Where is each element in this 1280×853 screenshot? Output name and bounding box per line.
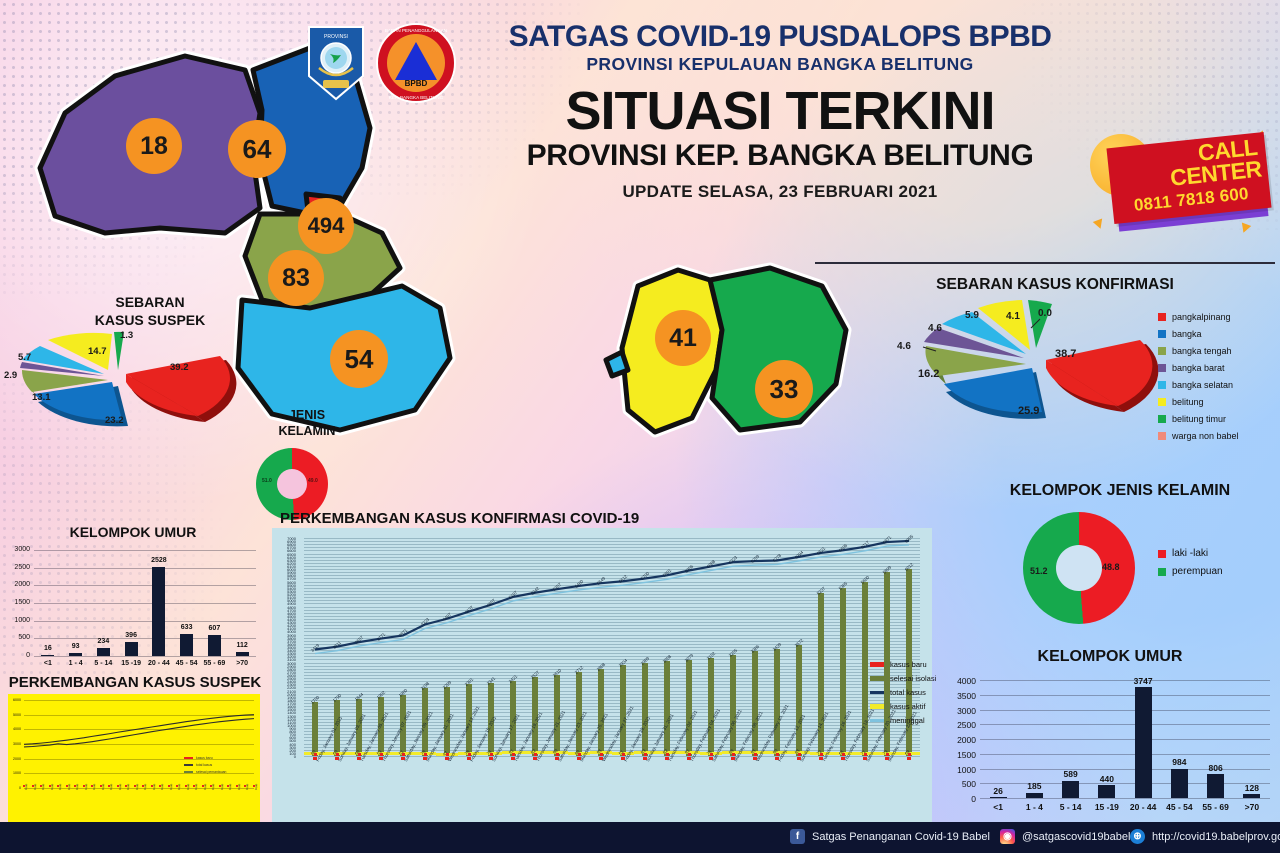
konfirmasi-pie-label-bangka-barat: 4.6 xyxy=(897,341,911,352)
x-axis-tick: 15 -19 xyxy=(1089,802,1125,812)
map-bubble-value: 83 xyxy=(282,264,310,293)
y-axis-tick: 2500 xyxy=(948,720,976,730)
x-axis-tick: 1 - 4 xyxy=(62,660,90,667)
y-axis-tick: 3000 xyxy=(948,706,976,716)
logo-bpbd-text: BPBD xyxy=(405,79,428,88)
x-axis-date: Date xyxy=(135,784,139,790)
legend-label: total kasus xyxy=(196,763,212,767)
suspek-pie-label-bangka-selatan: 5.7 xyxy=(18,352,31,363)
legend-swatch-icon xyxy=(1158,347,1166,355)
x-axis-date: Date xyxy=(50,784,54,790)
legend-label: laki -laki xyxy=(1172,548,1208,559)
suspek-pie-title-line2: KASUS SUSPEK xyxy=(55,312,245,330)
y-axis-tick: 1000 xyxy=(948,765,976,775)
suspek-pie-title-line1: SEBARAN xyxy=(55,294,245,312)
kelompok-jk-legend: laki -laki perempuan xyxy=(1158,548,1223,584)
legend-label: warga non babel xyxy=(1172,431,1239,441)
legend-item[interactable]: total kasus xyxy=(870,688,936,697)
x-axis-tick: <1 xyxy=(980,802,1016,812)
x-axis-tick: 5 - 14 xyxy=(90,660,118,667)
x-axis-tick: 20 - 44 xyxy=(145,660,173,667)
y-axis-tick: 1500 xyxy=(948,750,976,760)
jenis-kelamin-title: JENIS KELAMIN xyxy=(252,408,362,439)
map-bubble-belitung-timur[interactable]: 33 xyxy=(755,360,813,418)
bar xyxy=(1062,781,1079,798)
legend-label: selesai isolasi xyxy=(890,674,936,683)
x-axis-marker xyxy=(555,757,559,760)
x-axis-date: Date xyxy=(152,784,156,790)
legend-item[interactable]: bangka tengah xyxy=(1158,346,1239,356)
perkembangan-konfirmasi-title: PERKEMBANGAN KASUS KONFIRMASI COVID-19 xyxy=(280,510,920,527)
header-divider xyxy=(815,262,1275,264)
bar-value-label: 26 xyxy=(980,786,1016,796)
legend-swatch-icon xyxy=(1158,313,1166,321)
call-center-badge[interactable]: CALL CENTER 0811 7818 600 xyxy=(1090,128,1270,238)
x-axis-date: Date xyxy=(126,784,130,790)
konfirmasi-leader-line xyxy=(1028,318,1042,330)
legend-swatch-icon xyxy=(1158,415,1166,423)
map-bubble-belitung[interactable]: 41 xyxy=(655,310,711,366)
map-bubble-value: 18 xyxy=(140,132,168,161)
infographic-poster: 18 64 494 83 54 41 33 PROVINSI BPBD BADA… xyxy=(0,0,1280,853)
map-bubble-value: 33 xyxy=(770,374,799,405)
legend-swatch-icon xyxy=(1158,381,1166,389)
gridline xyxy=(34,603,256,604)
gridline xyxy=(980,724,1270,725)
gridline xyxy=(980,798,1270,799)
map-bubble-value: 64 xyxy=(243,134,272,165)
gridline xyxy=(980,754,1270,755)
x-axis-marker xyxy=(841,757,845,760)
konfirmasi-leader-line xyxy=(922,344,938,354)
suspek-pie-label-bangka: 23.2 xyxy=(105,415,124,426)
bar xyxy=(41,655,54,656)
legend-label: kasus baru xyxy=(890,660,927,669)
header-block: SATGAS COVID-19 PUSDALOPS BPBD PROVINSI … xyxy=(470,22,1090,202)
footer-facebook-label: Satgas Penanganan Covid-19 Babel xyxy=(812,831,990,843)
legend-item[interactable]: total kasus xyxy=(184,763,226,767)
legend-swatch-icon xyxy=(184,764,193,766)
y-axis-tick: 1000 xyxy=(8,617,30,624)
jenis-kelamin-label-laki: 49.0 xyxy=(308,478,318,484)
x-axis-date: Date xyxy=(220,784,224,790)
x-axis-tick: 45 - 54 xyxy=(173,660,201,667)
suspek-pie-label-belitung-timur: 1.3 xyxy=(120,330,133,341)
jenis-kelamin-title-line1: JENIS xyxy=(252,408,362,424)
gridline xyxy=(980,710,1270,711)
legend-item[interactable]: kasus baru xyxy=(870,660,936,669)
facebook-icon: f xyxy=(790,829,805,844)
x-axis-date: Date xyxy=(203,784,207,790)
umur-kiri-chart: 05001000150020002500300016<1931 - 42345 … xyxy=(8,542,260,674)
map-bubble-bangka-tengah[interactable]: 83 xyxy=(268,250,324,306)
footer-facebook[interactable]: f Satgas Penanganan Covid-19 Babel xyxy=(790,829,990,844)
suspek-pie-label-bangka-tengah: 13.1 xyxy=(32,392,51,403)
bar xyxy=(180,634,193,656)
x-axis-marker xyxy=(379,757,383,760)
konfirmasi-pie-legend: pangkalpinang bangka bangka tengah bangk… xyxy=(1158,312,1239,448)
konfirmasi-pie-label-belitung: 5.9 xyxy=(965,310,979,321)
legend-swatch-icon xyxy=(1158,568,1166,576)
x-axis-date: Date xyxy=(177,784,181,790)
x-axis-marker xyxy=(313,757,317,760)
x-axis-marker xyxy=(907,757,911,760)
legend-label: perempuan xyxy=(1172,566,1223,577)
konfirmasi-pie-label-pangkalpinang: 38.7 xyxy=(1055,348,1076,360)
suspek-pie-label-bangka-barat: 2.9 xyxy=(4,370,17,381)
gridline xyxy=(34,656,256,657)
legend-item[interactable]: belitung timur xyxy=(1158,414,1239,424)
logo-bpbd-ring-text: BADAN PENANGGULANGAN xyxy=(385,28,447,33)
y-axis-tick: 2500 xyxy=(8,564,30,571)
x-axis-marker xyxy=(731,757,735,760)
x-axis-marker xyxy=(423,757,427,760)
konfirmasi-pie-label-bangka-selatan: 4.6 xyxy=(928,323,942,334)
x-axis-marker xyxy=(643,757,647,760)
x-axis-marker xyxy=(621,757,625,760)
bar-value-label: 128 xyxy=(1234,783,1270,793)
bar-value-label: 185 xyxy=(1016,781,1052,791)
x-axis-marker xyxy=(357,757,361,760)
legend-swatch-icon xyxy=(870,676,884,681)
y-axis-tick: 1500 xyxy=(8,599,30,606)
legend-item[interactable]: laki -laki xyxy=(1158,548,1223,559)
x-axis-tick: >70 xyxy=(228,660,256,667)
gridline xyxy=(980,695,1270,696)
y-axis-tick: 0 xyxy=(8,652,30,659)
provincial-emblem-logo: PROVINSI xyxy=(305,24,367,102)
map-bubble-pangkalpinang[interactable]: 494 xyxy=(298,198,354,254)
x-axis-tick: 45 - 54 xyxy=(1161,802,1197,812)
map-bubble-bangka-selatan[interactable]: 54 xyxy=(330,330,388,388)
legend-item[interactable]: bangka selatan xyxy=(1158,380,1239,390)
legend-swatch-icon xyxy=(870,662,884,667)
header-province-line: PROVINSI KEPULAUAN BANGKA BELITUNG xyxy=(470,52,1090,77)
bar xyxy=(1135,687,1152,798)
footer-bar: f Satgas Penanganan Covid-19 Babel ◉ @sa… xyxy=(0,822,1280,853)
x-axis-date: Date xyxy=(160,784,164,790)
legend-swatch-icon xyxy=(184,771,193,773)
x-axis-marker xyxy=(335,757,339,760)
x-axis-date: Date xyxy=(67,784,71,790)
map-bubble-bangka-barat[interactable]: 18 xyxy=(126,118,182,174)
umur-kanan-title: KELOMPOK UMUR xyxy=(950,648,1270,666)
suspek-pie-chart xyxy=(0,330,250,450)
gridline xyxy=(980,739,1270,740)
legend-swatch-icon xyxy=(1158,550,1166,558)
x-axis-marker xyxy=(863,757,867,760)
gridline xyxy=(34,621,256,622)
legend-item[interactable]: belitung xyxy=(1158,397,1239,407)
x-axis-date: Date xyxy=(33,784,37,790)
x-axis-date: Date xyxy=(186,784,190,790)
bar-value-label: 589 xyxy=(1053,769,1089,779)
suspek-pie-title: SEBARAN KASUS SUSPEK xyxy=(55,294,245,329)
legend-swatch-icon xyxy=(1158,364,1166,372)
x-axis-marker xyxy=(797,757,801,760)
x-axis-date: Date xyxy=(58,784,62,790)
legend-label: kasus baru xyxy=(196,756,213,760)
x-axis-marker xyxy=(533,757,537,760)
bar xyxy=(1026,793,1043,798)
y-axis-tick: 500 xyxy=(948,779,976,789)
x-axis-tick: 20 - 44 xyxy=(1125,802,1161,812)
bar xyxy=(990,797,1007,798)
legend-swatch-icon xyxy=(870,719,884,722)
legend-item[interactable]: bangka barat xyxy=(1158,363,1239,373)
bar xyxy=(69,653,82,656)
x-axis-tick: 5 - 14 xyxy=(1053,802,1089,812)
perkembangan-suspek-chart: 0100020003000400050006000DateDateDateDat… xyxy=(8,694,260,834)
x-axis-date: Date xyxy=(194,784,198,790)
bar xyxy=(208,635,221,656)
footer-instagram[interactable]: ◉ @satgascovid19babel xyxy=(1000,829,1130,844)
jenis-kelamin-label-perempuan: 51.0 xyxy=(262,478,272,484)
legend-swatch-icon xyxy=(184,757,193,759)
bar-value-label: 607 xyxy=(196,625,232,632)
perkembangan-suspek-title: PERKEMBANGAN KASUS SUSPEK xyxy=(4,674,266,691)
bar-value-label: 806 xyxy=(1198,763,1234,773)
bar-value-label: 3747 xyxy=(1125,676,1161,686)
gridline xyxy=(34,568,256,569)
gridline xyxy=(34,585,256,586)
x-axis-marker xyxy=(467,757,471,760)
bar-value-label: 396 xyxy=(113,632,149,639)
update-date: UPDATE SELASA, 23 FEBRUARI 2021 xyxy=(470,182,1090,202)
x-axis-date: Date xyxy=(92,784,96,790)
perkembangan-konfirmasi-legend: kasus baru selesai isolasi total kasus k… xyxy=(870,660,936,730)
map-bubble-value: 494 xyxy=(308,213,345,239)
legend-swatch-icon xyxy=(870,691,884,694)
spark-icon xyxy=(1239,223,1251,235)
x-axis-marker xyxy=(511,757,515,760)
legend-item[interactable]: selesai pemantauan xyxy=(184,770,226,774)
legend-swatch-icon xyxy=(1158,398,1166,406)
x-axis-tick: >70 xyxy=(1234,802,1270,812)
legend-label: bangka selatan xyxy=(1172,380,1233,390)
x-axis-date: Date xyxy=(101,784,105,790)
umur-kiri-title: KELOMPOK UMUR xyxy=(8,524,258,540)
kelompok-jk-title: KELOMPOK JENIS KELAMIN xyxy=(965,482,1275,500)
perkembangan-konfirmasi-chart: 0100200300400500600700800900100011001200… xyxy=(272,528,932,844)
x-axis-date: Date xyxy=(75,784,79,790)
legend-label: pangkalpinang xyxy=(1172,312,1231,322)
footer-instagram-label: @satgascovid19babel xyxy=(1022,831,1130,843)
legend-label: meninggal xyxy=(890,716,925,725)
legend-swatch-icon xyxy=(1158,432,1166,440)
x-axis-date: Date xyxy=(169,784,173,790)
instagram-icon: ◉ xyxy=(1000,829,1015,844)
x-axis-date: Date xyxy=(84,784,88,790)
konfirmasi-pie-label-belitung-timur: 4.1 xyxy=(1006,311,1020,322)
konfirmasi-pie-title: SEBARAN KASUS KONFIRMASI xyxy=(890,276,1220,294)
legend-item[interactable]: kasus aktif xyxy=(870,702,936,711)
legend-label: kasus aktif xyxy=(890,702,925,711)
konfirmasi-pie-label-bangka-tengah: 16.2 xyxy=(918,368,939,380)
x-axis-marker xyxy=(577,757,581,760)
x-axis-date: Date xyxy=(41,784,45,790)
page-title: SITUASI TERKINI xyxy=(470,83,1090,140)
x-axis-marker xyxy=(489,757,493,760)
y-axis-tick: 3500 xyxy=(948,691,976,701)
x-axis-tick: 15 -19 xyxy=(117,660,145,667)
page-subtitle: PROVINSI KEP. BANGKA BELITUNG xyxy=(470,139,1090,172)
logo-bpbd-sub-text: KEP. BANGKA BELITUNG xyxy=(389,95,444,100)
x-axis-tick: <1 xyxy=(34,660,62,667)
globe-icon: ⊕ xyxy=(1130,829,1145,844)
map-bubble-value: 54 xyxy=(345,344,374,375)
legend-item[interactable]: meninggal xyxy=(870,716,936,725)
x-axis-tick: 1 - 4 xyxy=(1016,802,1052,812)
konfirmasi-pie-label-bangka: 25.9 xyxy=(1018,405,1039,417)
map-bubble-value: 41 xyxy=(669,324,697,353)
bar-value-label: 440 xyxy=(1089,774,1125,784)
x-axis-marker xyxy=(753,757,757,760)
legend-label: belitung timur xyxy=(1172,414,1226,424)
x-axis-tick: 55 - 69 xyxy=(1198,802,1234,812)
x-axis-marker xyxy=(885,757,889,760)
footer-website-label: http://covid19.babelprov.go.id xyxy=(1152,831,1280,843)
kelompok-jk-label-perempuan: 51.2 xyxy=(1030,566,1048,576)
bpbd-logo: BPBD BADAN PENANGGULANGAN KEP. BANGKA BE… xyxy=(375,22,457,104)
x-axis-date: Date xyxy=(143,784,147,790)
umur-kanan-chart: 0500100015002000250030003500400026<11851… xyxy=(948,668,1276,820)
suspek-pie-label-pangkalpinang: 39.2 xyxy=(170,362,189,373)
bar-value-label: 2528 xyxy=(141,557,177,564)
x-axis-date: Date xyxy=(237,784,241,790)
x-axis-date: Date xyxy=(24,784,28,790)
map-bubble-bangka[interactable]: 64 xyxy=(228,120,286,178)
footer-website[interactable]: ⊕ http://covid19.babelprov.go.id xyxy=(1130,829,1280,844)
jenis-kelamin-title-line2: KELAMIN xyxy=(252,424,362,440)
legend-label: bangka barat xyxy=(1172,363,1225,373)
legend-item[interactable]: bangka xyxy=(1158,329,1239,339)
legend-label: bangka xyxy=(1172,329,1202,339)
donut-hole xyxy=(277,469,307,499)
x-axis-marker xyxy=(819,757,823,760)
bar xyxy=(152,567,165,656)
x-axis-date: Date xyxy=(228,784,232,790)
bar-value-label: 984 xyxy=(1161,757,1197,767)
x-axis-marker xyxy=(401,757,405,760)
x-axis-marker xyxy=(665,757,669,760)
x-axis-date: Date xyxy=(118,784,122,790)
bar xyxy=(1098,785,1115,798)
x-axis-date: Date xyxy=(109,784,113,790)
y-axis-tick: 2000 xyxy=(8,581,30,588)
y-axis-tick: 2000 xyxy=(948,735,976,745)
legend-label: total kasus xyxy=(890,688,926,697)
bar xyxy=(1171,769,1188,798)
bar-value-label: 112 xyxy=(224,642,260,649)
legend-item[interactable]: pangkalpinang xyxy=(1158,312,1239,322)
y-axis-tick: 500 xyxy=(8,634,30,641)
legend-item[interactable]: selesai isolasi xyxy=(870,674,936,683)
legend-label: belitung xyxy=(1172,397,1204,407)
x-axis-date: Date xyxy=(211,784,215,790)
x-axis-marker xyxy=(709,757,713,760)
y-axis-tick: 0 xyxy=(948,794,976,804)
donut-hole xyxy=(1056,545,1102,591)
x-axis-marker xyxy=(687,757,691,760)
x-axis-marker xyxy=(775,757,779,760)
header-org-line: SATGAS COVID-19 PUSDALOPS BPBD xyxy=(470,22,1090,52)
bar xyxy=(236,652,249,656)
logo-prov-text: PROVINSI xyxy=(324,34,348,40)
y-axis-tick: 3000 xyxy=(8,546,30,553)
legend-swatch-icon xyxy=(870,704,884,709)
legend-item[interactable]: kasus baru xyxy=(184,756,226,760)
x-axis-marker xyxy=(599,757,603,760)
legend-item[interactable]: perempuan xyxy=(1158,566,1223,577)
bar xyxy=(97,648,110,656)
spark-icon xyxy=(1093,219,1105,231)
kelompok-jk-label-laki: 48.8 xyxy=(1102,562,1120,572)
legend-label: bangka tengah xyxy=(1172,346,1232,356)
suspek-pie-label-belitung: 14.7 xyxy=(88,346,107,357)
perkembangan-suspek-legend: kasus barutotal kasusselesai pemantauan xyxy=(184,756,226,777)
bar xyxy=(1243,794,1260,798)
bar xyxy=(125,642,138,656)
y-axis-tick: 4000 xyxy=(948,676,976,686)
legend-label: selesai pemantauan xyxy=(196,770,226,774)
gridline xyxy=(34,550,256,551)
x-axis-tick: 55 - 69 xyxy=(201,660,229,667)
x-axis-date: Date xyxy=(254,784,258,790)
legend-item[interactable]: warga non babel xyxy=(1158,431,1239,441)
legend-swatch-icon xyxy=(1158,330,1166,338)
x-axis-marker xyxy=(445,757,449,760)
bar xyxy=(1207,774,1224,798)
